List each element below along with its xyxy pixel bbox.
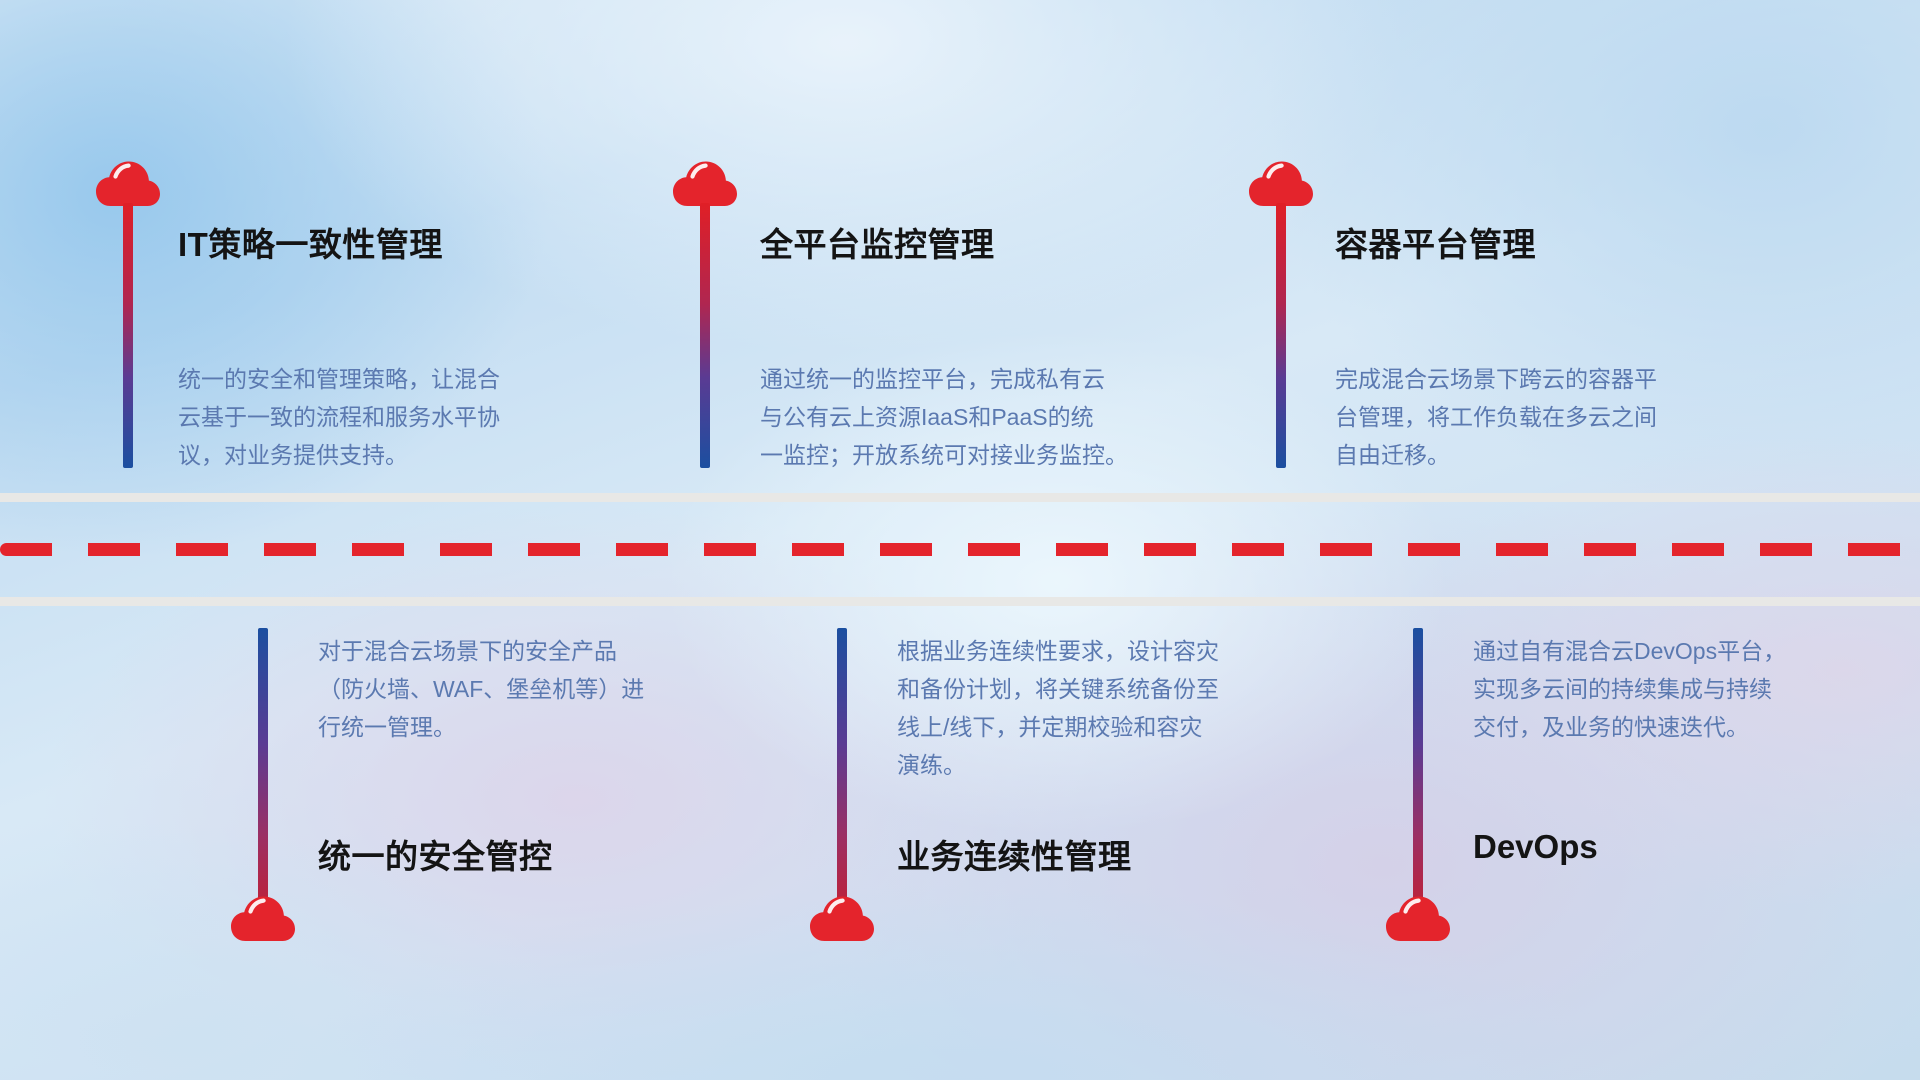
road-dashed-centerline (0, 543, 1920, 556)
connector-bar (123, 203, 133, 468)
top-item-3-body: 完成混合云场景下跨云的容器平 台管理，将工作负载在多云之间 自由迁移。 (1335, 360, 1775, 474)
road-edge-top (0, 493, 1920, 502)
cloud-icon (809, 895, 875, 943)
bottom-item-1-title: 统一的安全管控 (318, 830, 553, 878)
bottom-item-2-title: 业务连续性管理 (897, 830, 1132, 878)
bottom-item-1-body: 对于混合云场景下的安全产品 （防火墙、WAF、堡垒机等）进 行统一管理。 (318, 632, 748, 746)
cloud-icon (672, 160, 738, 208)
cloud-icon (1385, 895, 1451, 943)
connector-bar (1276, 203, 1286, 468)
road-edge-bottom (0, 597, 1920, 606)
connector-bar (837, 628, 847, 918)
cloud-icon (230, 895, 296, 943)
top-item-2-title: 全平台监控管理 (760, 218, 995, 266)
bottom-item-3-body: 通过自有混合云DevOps平台， 实现多云间的持续集成与持续 交付，及业务的快速… (1473, 632, 1913, 746)
cloud-icon (95, 160, 161, 208)
connector-bar (700, 203, 710, 468)
top-item-1-title: IT策略一致性管理 (178, 218, 443, 266)
top-item-3-title: 容器平台管理 (1335, 218, 1536, 266)
top-item-2-body: 通过统一的监控平台，完成私有云 与公有云上资源IaaS和PaaS的统 一监控；开… (760, 360, 1210, 474)
top-item-1-body: 统一的安全和管理策略，让混合 云基于一致的流程和服务水平协 议，对业务提供支持。 (178, 360, 608, 474)
infographic-canvas: IT策略一致性管理 统一的安全和管理策略，让混合 云基于一致的流程和服务水平协 … (0, 0, 1920, 1080)
bottom-item-3-title: DevOps (1473, 828, 1598, 866)
connector-bar (1413, 628, 1423, 918)
cloud-icon (1248, 160, 1314, 208)
bottom-item-2-body: 根据业务连续性要求，设计容灾 和备份计划，将关键系统备份至 线上/线下，并定期校… (897, 632, 1337, 784)
connector-bar (258, 628, 268, 918)
